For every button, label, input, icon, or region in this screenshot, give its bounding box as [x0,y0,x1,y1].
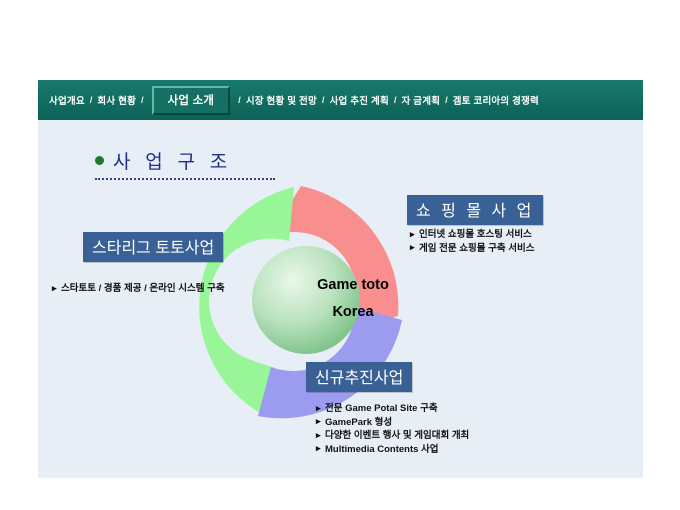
caption-starleague-toto-business: 스타리그 토토사업 [83,232,223,262]
nav-separator: / [235,95,244,106]
nav-item-business-overview[interactable]: 사업개요 [47,93,87,107]
center-brand-label: Game toto Korea [293,272,413,326]
bullet-list-shopping-mall: 인터넷 쇼핑몰 호스팅 서비스 게임 전문 쇼핑몰 구축 서비스 [410,228,534,255]
center-brand-line1: Game toto [293,272,413,299]
nav-separator: / [319,95,328,106]
nav-separator: / [442,95,451,106]
list-item: 다양한 이벤트 행사 및 게임대회 개최 [316,429,469,443]
nav-item-business-introduction[interactable]: 사업 소개 [152,86,231,115]
bullet-list-new-business: 전문 Game Potal Site 구축 GamePark 형성 다양한 이벤… [316,402,469,456]
list-item: 스타토토 / 경품 제공 / 온라인 시스템 구축 [52,282,225,296]
nav-separator: / [391,95,400,106]
list-item: 인터넷 쇼핑몰 호스팅 서비스 [410,228,534,242]
nav-item-company-status[interactable]: 회사 현황 [95,93,138,107]
bullet-list-toto: 스타토토 / 경품 제공 / 온라인 시스템 구축 [52,282,225,296]
caption-new-business: 신규추진사업 [306,362,412,392]
nav-separator: / [87,95,96,106]
section-navigation-bar: 사업개요 / 회사 현황 / 사업 소개 / 시장 현황 및 전망 / 사업 추… [38,80,643,120]
nav-item-business-plan[interactable]: 사업 추진 계획 [328,93,391,107]
list-item: Multimedia Contents 사업 [316,443,469,457]
list-item: GamePark 형성 [316,416,469,430]
caption-shopping-mall-business: 쇼 핑 몰 사 업 [407,195,543,225]
nav-item-market-status[interactable]: 시장 현황 및 전망 [244,93,319,107]
nav-item-competitiveness[interactable]: 겜토 코리아의 경쟁력 [451,93,541,107]
bullet-dot-icon [95,156,104,165]
slide-canvas: 사업개요 / 회사 현황 / 사업 소개 / 시장 현황 및 전망 / 사업 추… [38,80,643,478]
list-item: 전문 Game Potal Site 구축 [316,402,469,416]
list-item: 게임 전문 쇼핑몰 구축 서비스 [410,242,534,256]
nav-separator: / [138,95,147,106]
center-brand-line2: Korea [293,299,413,326]
nav-item-funding-plan[interactable]: 자 금계획 [400,93,443,107]
